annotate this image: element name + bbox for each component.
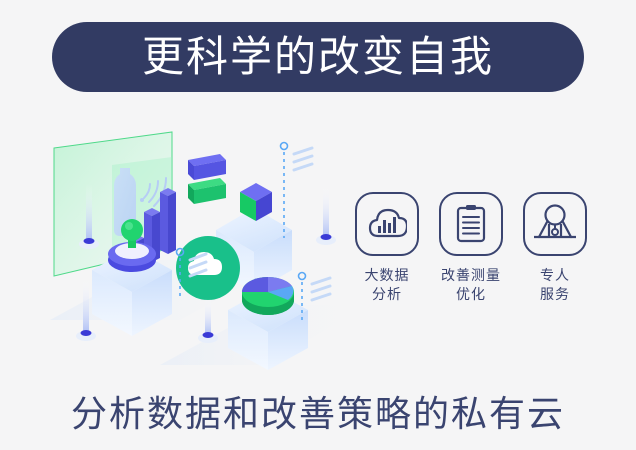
feature-item-big-data[interactable]: 大数据 分析: [352, 192, 422, 305]
blue-sign-card: [188, 154, 226, 180]
feature-label-measure: 改善测量 优化: [441, 267, 501, 305]
page-title: 更科学的改变自我: [142, 36, 494, 78]
cloud-bar-chart-icon: [367, 207, 407, 241]
feature-list: 大数据 分析 改善测量 优化: [352, 192, 590, 332]
support-person-badge: [523, 192, 587, 256]
page-tagline: 分析数据和改善策略的私有云: [0, 385, 636, 437]
feature-label-support: 专人 服务: [540, 267, 570, 305]
feature-item-measure[interactable]: 改善测量 优化: [436, 192, 506, 305]
pin-marker: [316, 186, 336, 245]
pie-chart-disc: [242, 277, 294, 315]
poster-canvas: 更科学的改变自我 大数据 分析: [0, 0, 636, 450]
dotted-marker-line: [281, 143, 313, 239]
feature-label-big-data: 大数据 分析: [365, 267, 410, 305]
title-banner: 更科学的改变自我: [52, 22, 584, 92]
cloud-badge: [176, 236, 240, 300]
cloud-bar-chart-badge: [355, 192, 419, 256]
isometric-illustration: [40, 120, 370, 370]
clipboard-badge: [439, 192, 503, 256]
green-sign-card: [188, 178, 226, 204]
support-person-icon: [532, 203, 578, 245]
feature-item-support[interactable]: 专人 服务: [520, 192, 590, 305]
clipboard-icon: [455, 204, 487, 244]
